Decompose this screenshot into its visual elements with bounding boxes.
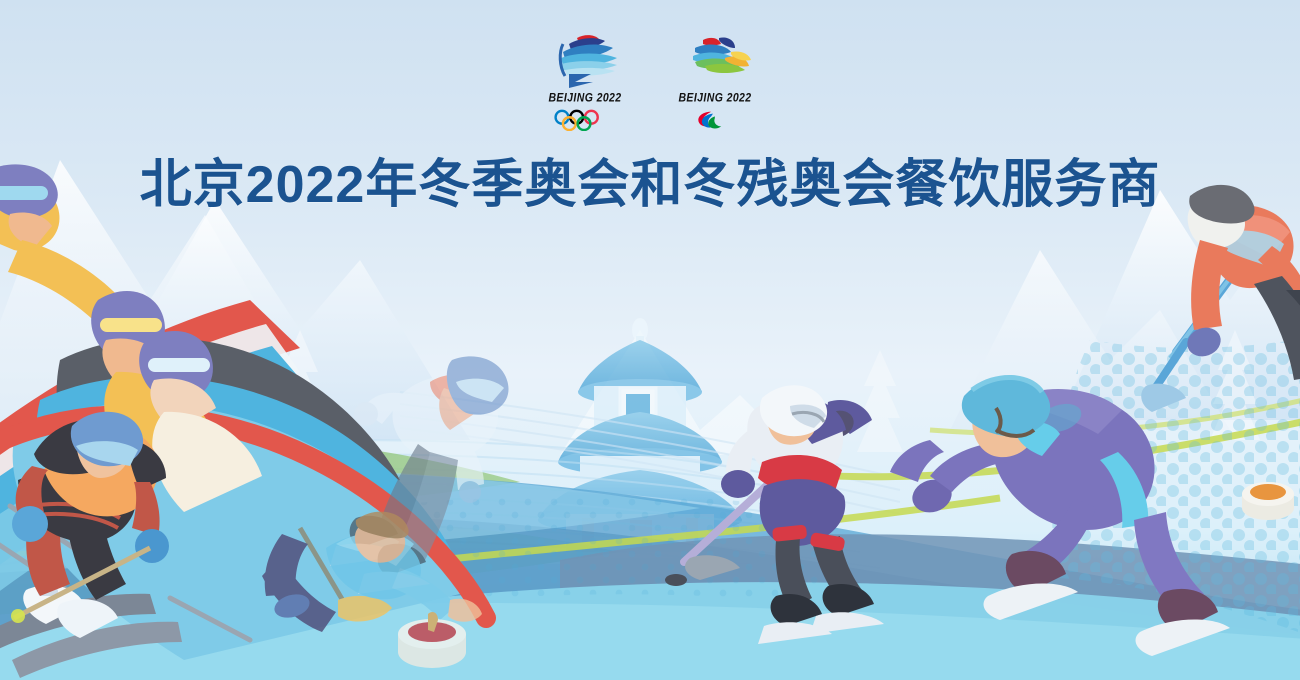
beijing-2022-banner: BEIJING 2022 (0, 0, 1300, 680)
emblem-row: BEIJING 2022 (0, 32, 1300, 131)
page-title: 北京2022年冬季奥会和冬残奥会餐饮服务商 (0, 142, 1300, 217)
olympic-rings-icon (551, 109, 619, 131)
winter-olympics-emblem-mark (539, 32, 631, 90)
paralympic-wordmark: BEIJING 2022 (678, 91, 751, 105)
paralympic-emblem[interactable]: BEIJING 2022 (669, 32, 761, 131)
olympic-emblem[interactable]: BEIJING 2022 (539, 32, 631, 131)
banner-header: BEIJING 2022 (0, 0, 1300, 230)
winter-paralympics-emblem-mark (669, 32, 761, 90)
speed-skater-body (890, 376, 1230, 656)
paralympic-agitos-icon (691, 109, 739, 131)
olympic-wordmark: BEIJING 2022 (548, 91, 621, 105)
